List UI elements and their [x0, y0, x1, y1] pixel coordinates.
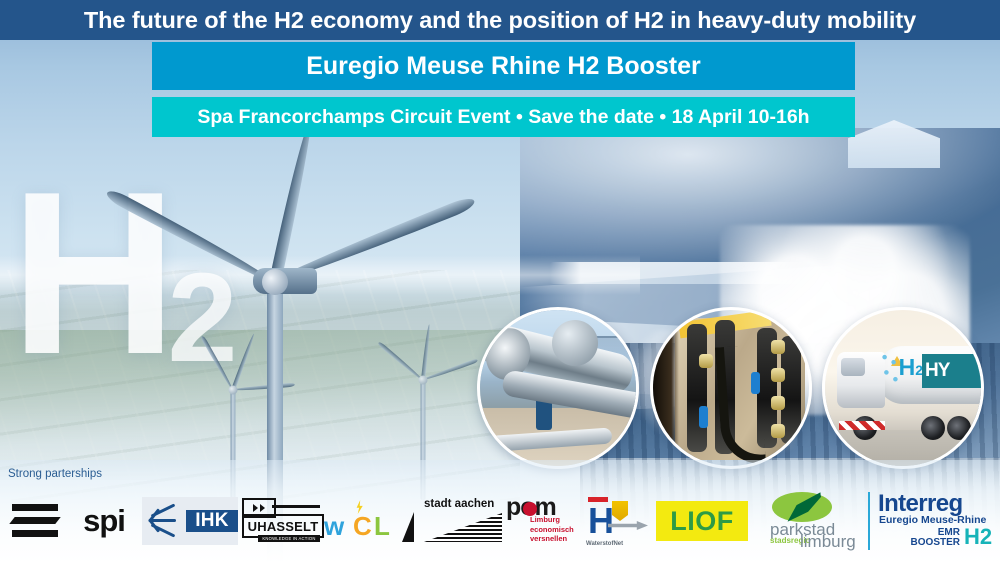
logo-uhasselt[interactable]: UHASSELT KNOWLEDGE IN ACTION [238, 496, 324, 546]
event-date-line: Spa Francorchamps Circuit Event • Save t… [197, 106, 809, 129]
spi-wordmark: spi [83, 503, 125, 539]
turbine-hub [229, 386, 238, 395]
logo-liof[interactable]: LIOF [656, 501, 748, 541]
aachen-steps-icon [424, 513, 502, 542]
interreg-h2: H2 [964, 526, 992, 548]
electrolyser-fitting [771, 368, 785, 382]
title-banner: The future of the H2 economy and the pos… [0, 0, 1000, 40]
waterstofnet-h: H [588, 503, 614, 539]
electrolyser-image [653, 310, 809, 466]
ihk-wordmark: IHK [186, 510, 238, 532]
zuyd-bar [9, 517, 60, 524]
wcl-l: L [374, 511, 390, 542]
pom-dot-icon [523, 502, 537, 516]
h2-watermark-h: H [10, 144, 174, 403]
interreg-emr-booster: EMR BOOSTER [904, 528, 960, 548]
zuyd-bar [12, 530, 58, 537]
wcl-w: w [324, 511, 344, 542]
wcl-c: C [353, 511, 372, 542]
electrolyser-blue-tag [699, 406, 708, 428]
photo-circle-pipeline [477, 307, 639, 469]
date-banner: Spa Francorchamps Circuit Event • Save t… [152, 97, 855, 137]
partner-strip: Strong parterships spi IHK UHASSELT [0, 460, 1000, 563]
pom-tagline: Limburg economisch versnellen [530, 515, 574, 544]
waterstofnet-caption: WaterstofNet [586, 541, 623, 547]
logo-wcl[interactable]: w C L [324, 501, 402, 541]
h2-watermark: H2 [10, 158, 234, 390]
uhasselt-rule [272, 505, 320, 508]
photo-circle-hydrogen-truck: H2 HY [822, 307, 984, 469]
electrolyser-fitting [771, 396, 785, 410]
electrolyser-blue-tag [751, 372, 760, 394]
pom-tagline-1: Limburg [530, 515, 560, 524]
pipeline-image [480, 310, 636, 466]
poster-title: The future of the H2 economy and the pos… [84, 7, 916, 34]
poster-canvas: H2 The future of the H2 economy and the … [0, 0, 1000, 563]
truck-h2-letter: H [899, 354, 916, 380]
photo-circle-electrolyser [650, 307, 812, 469]
emr-line2: BOOSTER [911, 537, 960, 548]
zuyd-bar [12, 504, 58, 511]
electrolyser-fitting [699, 354, 713, 368]
pom-tagline-3: versnellen [530, 534, 567, 543]
truck-window [841, 358, 865, 376]
turbine-hub [262, 269, 288, 295]
electrolyser-fitting [771, 340, 785, 354]
pom-tagline-2: economisch [530, 525, 574, 534]
arrow-icon [608, 521, 648, 530]
leaf-icon [772, 492, 832, 522]
truck-hazard-stripe [839, 421, 885, 430]
logo-zuyd[interactable] [8, 500, 66, 542]
truck-wheel [947, 416, 971, 440]
logo-ihk[interactable]: IHK [142, 497, 238, 545]
hydrogen-truck-image: H2 HY [825, 310, 981, 466]
logo-parkstad-limburg[interactable]: parkstad stadsregio limburg [748, 492, 860, 550]
partners-label: Strong parterships [8, 468, 102, 480]
turbine-hub [419, 376, 428, 385]
subtitle-banner: Euregio Meuse Rhine H2 Booster [152, 42, 855, 90]
poster-subtitle: Euregio Meuse Rhine H2 Booster [306, 52, 701, 81]
logo-waterstofnet[interactable]: H WaterstofNet [584, 495, 656, 547]
logo-divider [868, 492, 870, 550]
liof-wordmark: LIOF [670, 506, 734, 537]
truck-h2-label: H2 [899, 356, 923, 379]
logo-stadt-aachen[interactable]: stadt aachen [402, 498, 506, 544]
truck-wheel [921, 416, 945, 440]
pipeline-disc [552, 320, 598, 366]
electrolyser-shadow [653, 310, 679, 466]
uhasselt-tagline: KNOWLEDGE IN ACTION [258, 535, 320, 542]
electrolyser-fitting [771, 424, 785, 438]
h2-bubble-icon [881, 352, 899, 386]
stadt-aachen-wordmark: stadt aachen [424, 498, 494, 510]
partner-logo-row: spi IHK UHASSELT KNOWLEDGE IN ACTION w C… [0, 488, 1000, 554]
h2-watermark-2: 2 [168, 247, 234, 388]
logo-spi[interactable]: spi [66, 503, 142, 539]
aachen-tower-icon [402, 512, 414, 542]
logo-interreg-emr[interactable]: Interreg Euregio Meuse-Rhine EMR BOOSTER… [878, 490, 1000, 552]
flanders-shield-icon [612, 501, 628, 521]
parkstad-line3: limburg [800, 532, 856, 552]
truck-hy-badge: HY [922, 354, 981, 388]
logo-pom-limburg[interactable]: pom Limburg economisch versnellen [506, 493, 584, 549]
electrolyser-column [687, 324, 707, 452]
ihk-fan-icon [142, 497, 186, 545]
